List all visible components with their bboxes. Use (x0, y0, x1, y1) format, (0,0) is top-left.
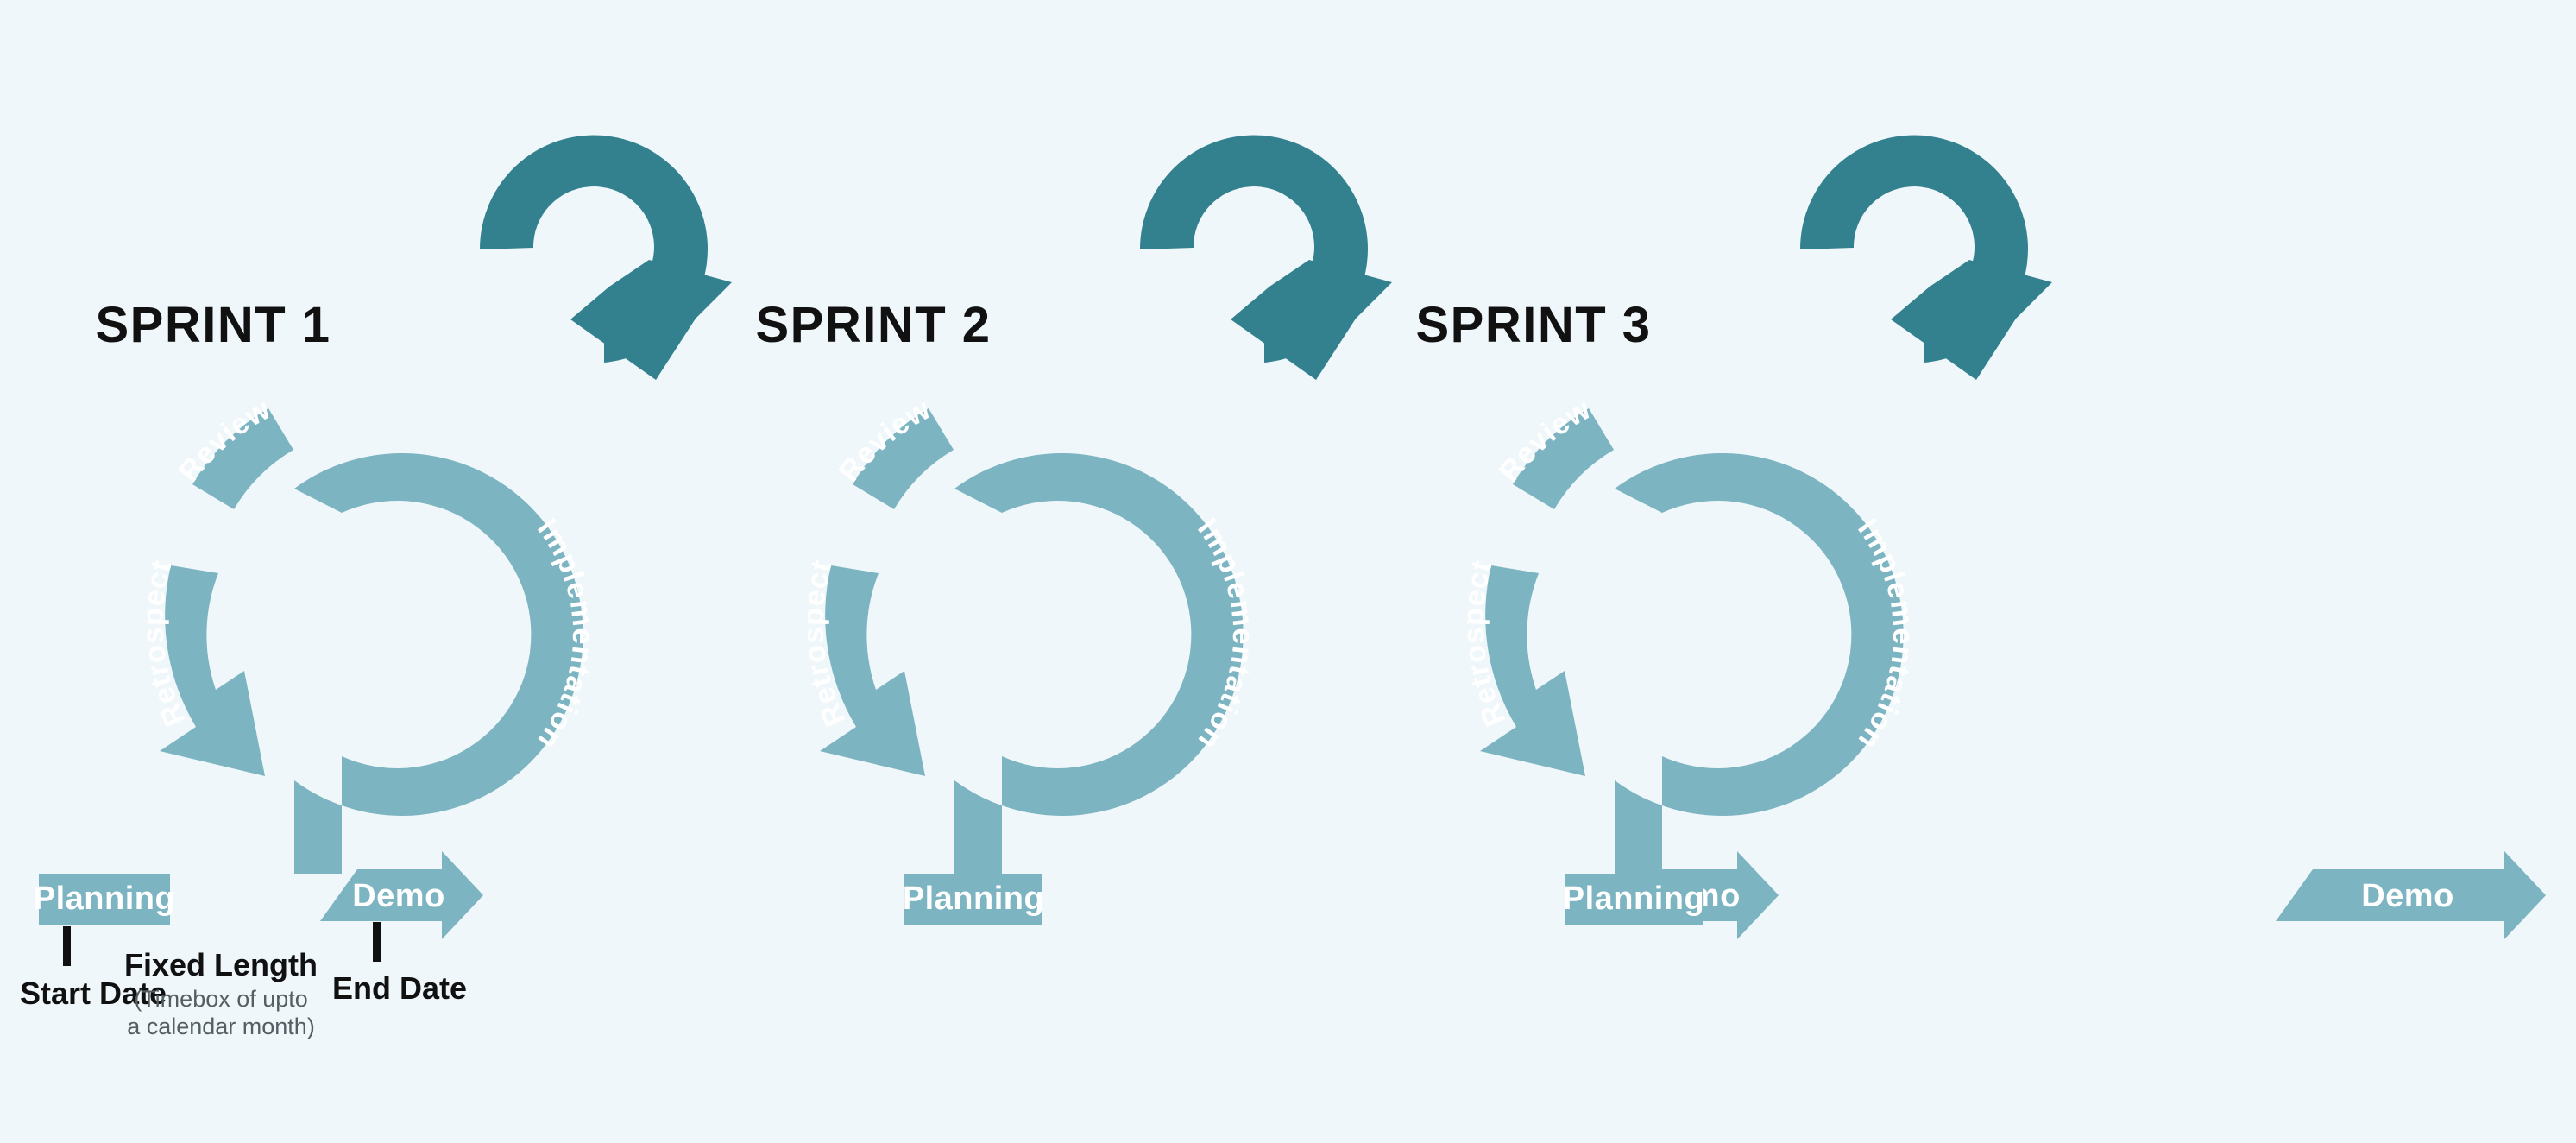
end-date-tick (373, 922, 381, 962)
sprint-cycle-svg: Planning Demo SPRINT 1 Implementation Re… (0, 0, 2576, 1143)
fixed-length-label: Fixed Length (124, 947, 318, 982)
end-date-label: End Date (332, 970, 467, 1006)
sprint-2-title: SPRINT 2 (755, 297, 991, 353)
sprint-1-demo-label: Demo (352, 878, 445, 914)
start-date-tick (63, 926, 71, 966)
sprint-3-planning-label: Planning (1563, 881, 1704, 917)
diagram-canvas: Planning Demo SPRINT 1 Implementation Re… (0, 0, 2576, 1143)
sprint-2-planning-label: Planning (903, 881, 1044, 917)
fixed-length-sub-line-2: a calendar month) (127, 1014, 315, 1039)
sprint-1-title: SPRINT 1 (95, 297, 331, 353)
sprint-3-demo-label: Demo (2361, 878, 2454, 914)
sprint-1-planning-label: Planning (34, 881, 175, 917)
sprint-3-title: SPRINT 3 (1415, 297, 1651, 353)
fixed-length-sub-line-1: (Timebox of upto (134, 986, 308, 1012)
